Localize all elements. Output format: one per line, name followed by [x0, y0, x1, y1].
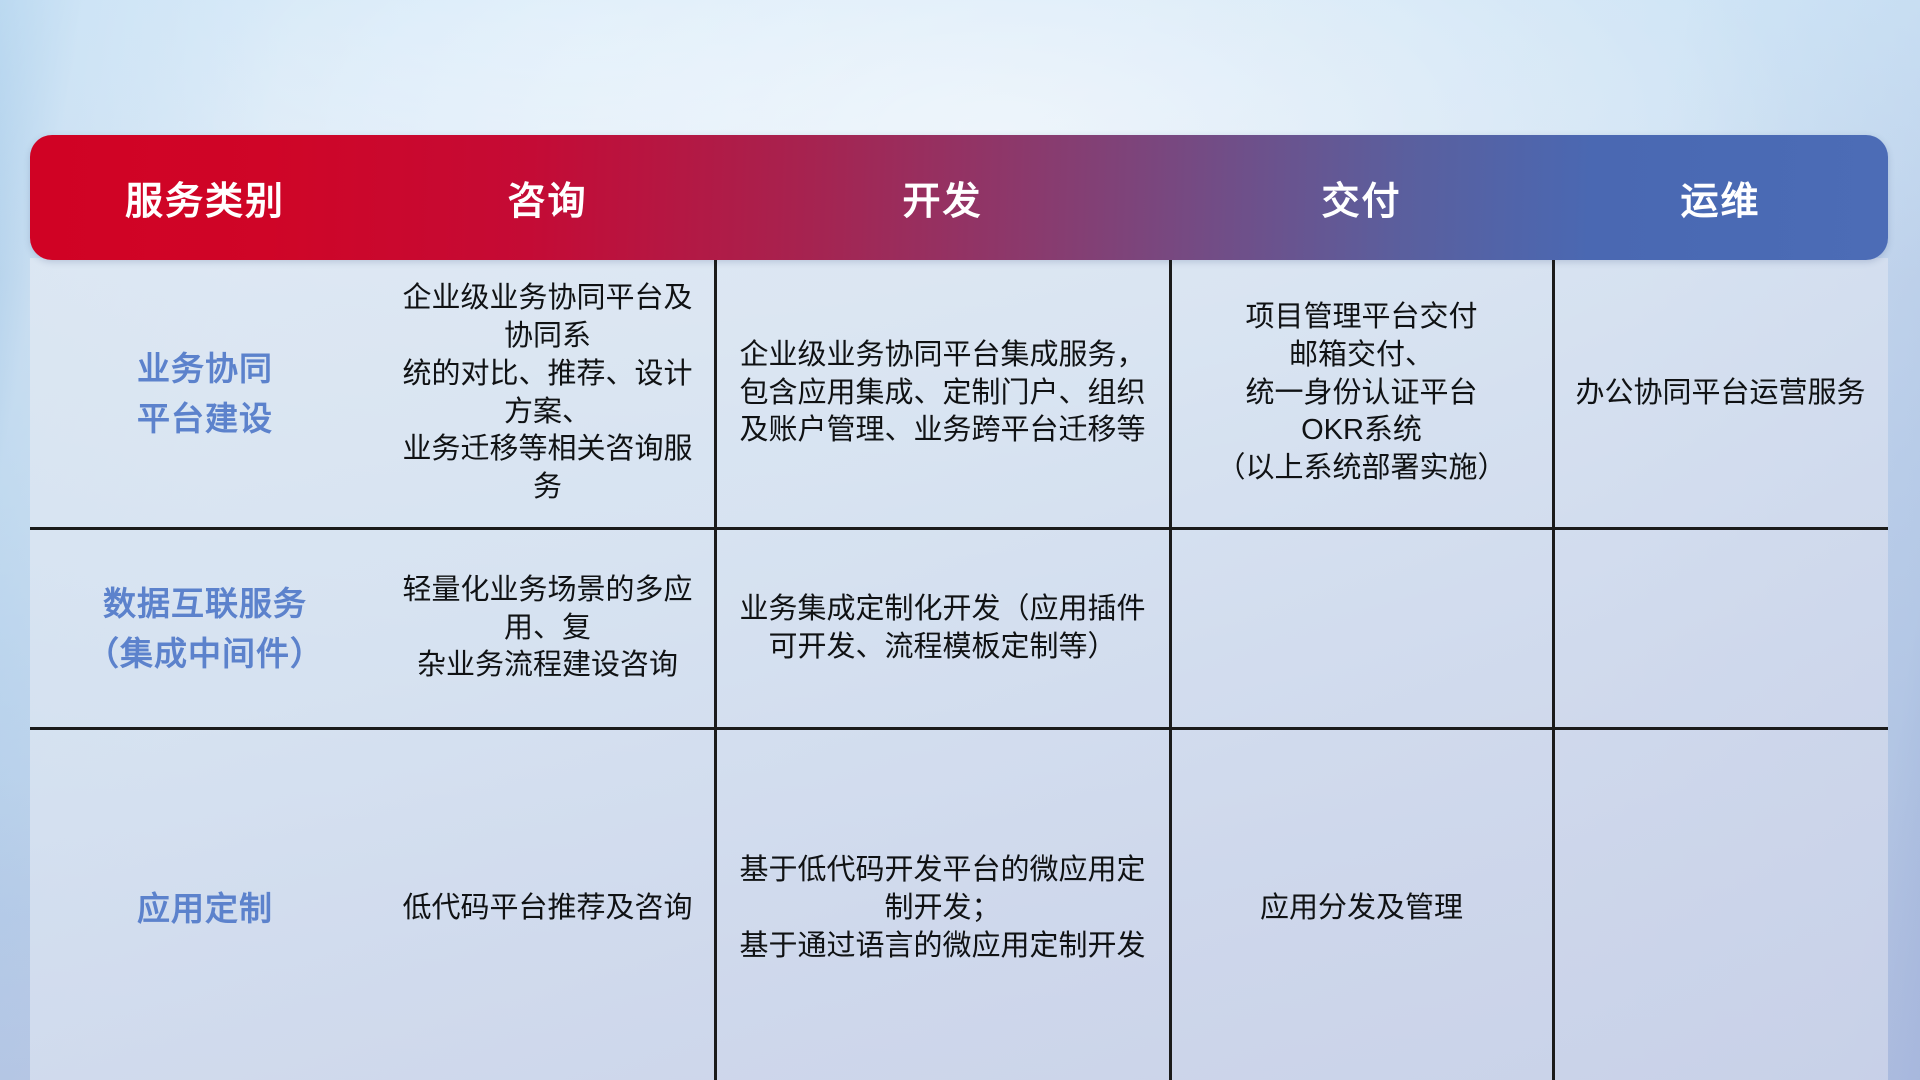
cell-text: 应用分发及管理: [1260, 890, 1463, 928]
cell-development: 业务集成定制化开发（应用插件 可开发、流程模板定制等）: [715, 530, 1170, 727]
row-label-cell: 业务协同 平台建设: [30, 260, 380, 527]
column-divider: [1552, 260, 1555, 1080]
table-row: 数据互联服务 （集成中间件） 轻量化业务场景的多应用、复 杂业务流程建设咨询 业…: [30, 530, 1888, 727]
service-matrix-table: 服务类别 咨询 开发 交付 运维 业务协同 平台建设 企业级业务协同平台及协同系…: [30, 135, 1888, 965]
row-label-cell: 应用定制: [30, 730, 380, 1080]
cell-text: 业务集成定制化开发（应用插件 可开发、流程模板定制等）: [739, 591, 1145, 666]
cell-text: 企业级业务协同平台及协同系 统的对比、推荐、设计方案、 业务迁移等相关咨询服务: [394, 280, 701, 506]
cell-consulting: 低代码平台推荐及咨询: [380, 730, 715, 1080]
table-row: 业务协同 平台建设 企业级业务协同平台及协同系 统的对比、推荐、设计方案、 业务…: [30, 260, 1888, 527]
row-divider: [30, 727, 1888, 730]
cell-operations: 办公协同平台运营服务: [1553, 260, 1888, 527]
row-label-text: 业务协同 平台建设: [137, 344, 273, 443]
row-label-text: 数据互联服务 （集成中间件）: [86, 579, 324, 678]
row-label-cell: 数据互联服务 （集成中间件）: [30, 530, 380, 727]
table-header-row: 服务类别 咨询 开发 交付 运维: [30, 135, 1888, 260]
column-header-category: 服务类别: [30, 170, 380, 225]
column-header-consulting: 咨询: [380, 170, 715, 225]
column-header-development: 开发: [715, 170, 1170, 225]
cell-delivery: 项目管理平台交付 邮箱交付、 统一身份认证平台 OKR系统 （以上系统部署实施）: [1170, 260, 1553, 527]
row-label-text: 应用定制: [137, 884, 273, 934]
column-header-delivery: 交付: [1170, 170, 1553, 225]
column-divider: [1169, 260, 1172, 1080]
cell-development: 企业级业务协同平台集成服务， 包含应用集成、定制门户、组织 及账户管理、业务跨平…: [715, 260, 1170, 527]
cell-text: 基于低代码开发平台的微应用定 制开发； 基于通过语言的微应用定制开发: [739, 852, 1145, 965]
cell-delivery: [1170, 530, 1553, 727]
cell-development: 基于低代码开发平台的微应用定 制开发； 基于通过语言的微应用定制开发: [715, 730, 1170, 1080]
cell-text: 低代码平台推荐及咨询: [402, 890, 692, 928]
cell-text: 项目管理平台交付 邮箱交付、 统一身份认证平台 OKR系统 （以上系统部署实施）: [1216, 299, 1506, 487]
cell-operations: [1553, 730, 1888, 1080]
cell-text: 办公协同平台运营服务: [1575, 375, 1865, 413]
table-row: 应用定制 低代码平台推荐及咨询 基于低代码开发平台的微应用定 制开发； 基于通过…: [30, 730, 1888, 1080]
cell-delivery: 应用分发及管理: [1170, 730, 1553, 1080]
cell-text: 企业级业务协同平台集成服务， 包含应用集成、定制门户、组织 及账户管理、业务跨平…: [739, 337, 1145, 450]
row-divider: [30, 527, 1888, 530]
cell-consulting: 企业级业务协同平台及协同系 统的对比、推荐、设计方案、 业务迁移等相关咨询服务: [380, 260, 715, 527]
column-header-operations: 运维: [1553, 170, 1888, 225]
cell-operations: [1553, 530, 1888, 727]
column-divider: [714, 260, 717, 1080]
cell-consulting: 轻量化业务场景的多应用、复 杂业务流程建设咨询: [380, 530, 715, 727]
cell-text: 轻量化业务场景的多应用、复 杂业务流程建设咨询: [394, 572, 701, 685]
